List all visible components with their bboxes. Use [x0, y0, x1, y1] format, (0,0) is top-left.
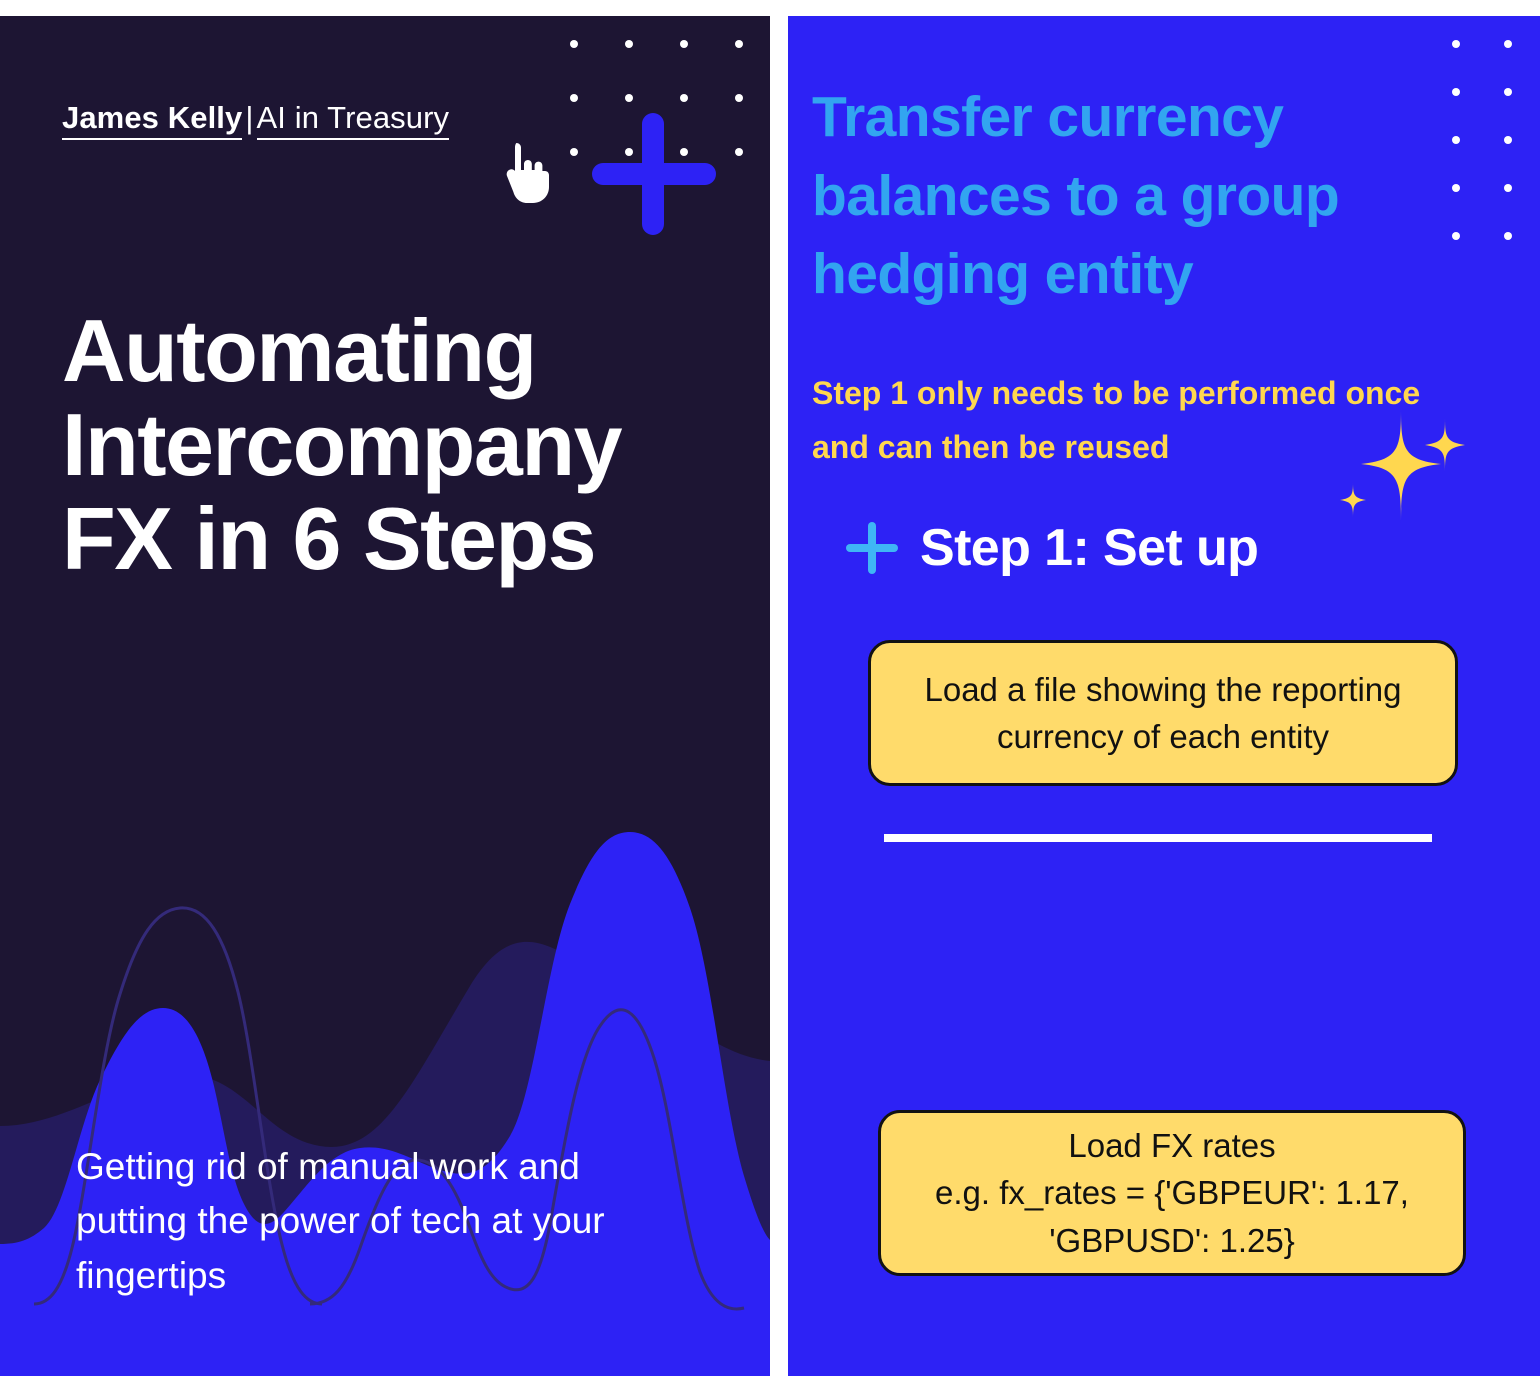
- plus-icon: [592, 113, 716, 235]
- callout-load-file: Load a file showing the reporting curren…: [868, 640, 1458, 786]
- grid-dot: [1452, 184, 1460, 192]
- grid-dot: [570, 40, 578, 48]
- grid-dot: [735, 40, 743, 48]
- page-title-line-3: FX in 6 Steps: [62, 492, 752, 586]
- step-heading-row: Step 1: Set up: [846, 518, 1258, 578]
- right-slide-panel: Transfer currency balances to a group he…: [788, 16, 1540, 1376]
- grid-dot: [1504, 136, 1512, 144]
- step-label: Step 1: Set up: [920, 518, 1258, 578]
- callout-fx-rates-line-3: 'GBPUSD': 1.25}: [901, 1217, 1443, 1264]
- page-title-line-1: Automating: [62, 304, 752, 398]
- grid-dot: [1452, 136, 1460, 144]
- grid-dot: [735, 94, 743, 102]
- byline-subtitle: AI in Treasury: [257, 100, 450, 140]
- byline-separator: |: [242, 100, 256, 135]
- sparkle-icon: [1333, 404, 1478, 529]
- grid-dot: [625, 94, 633, 102]
- slide-canvas: James Kelly|AI in Treasury Automating In…: [0, 0, 1540, 1376]
- dataframe-table-container: Company Country Reporting currency 0 Ima…: [884, 834, 1432, 842]
- grid-dot: [1504, 40, 1512, 48]
- grid-dot: [680, 40, 688, 48]
- callout-fx-rates-line-1: Load FX rates: [901, 1122, 1443, 1169]
- page-title-line-2: Intercompany: [62, 398, 752, 492]
- grid-dot: [570, 94, 578, 102]
- grid-dot: [1504, 88, 1512, 96]
- byline-author: James Kelly: [62, 100, 242, 140]
- plus-icon: [846, 522, 898, 574]
- pointing-hand-cursor-icon: [502, 140, 554, 206]
- grid-dot: [1504, 232, 1512, 240]
- byline: James Kelly|AI in Treasury: [62, 100, 449, 136]
- callout-load-file-text: Load a file showing the reporting curren…: [891, 666, 1435, 760]
- page-subtitle: Getting rid of manual work and putting t…: [76, 1140, 696, 1303]
- grid-dot: [1452, 88, 1460, 96]
- grid-dot: [735, 148, 743, 156]
- grid-dot: [570, 148, 578, 156]
- callout-fx-rates: Load FX rates e.g. fx_rates = {'GBPEUR':…: [878, 1110, 1466, 1276]
- grid-dot: [625, 40, 633, 48]
- left-slide-panel: James Kelly|AI in Treasury Automating In…: [0, 16, 770, 1376]
- callout-fx-rates-line-2: e.g. fx_rates = {'GBPEUR': 1.17,: [901, 1169, 1443, 1216]
- grid-dot: [1452, 232, 1460, 240]
- page-title: Automating Intercompany FX in 6 Steps: [62, 304, 752, 586]
- grid-dot: [1452, 40, 1460, 48]
- grid-dot: [1504, 184, 1512, 192]
- dot-grid-decoration-right: [1452, 40, 1512, 280]
- section-heading: Transfer currency balances to a group he…: [812, 78, 1452, 314]
- grid-dot: [680, 94, 688, 102]
